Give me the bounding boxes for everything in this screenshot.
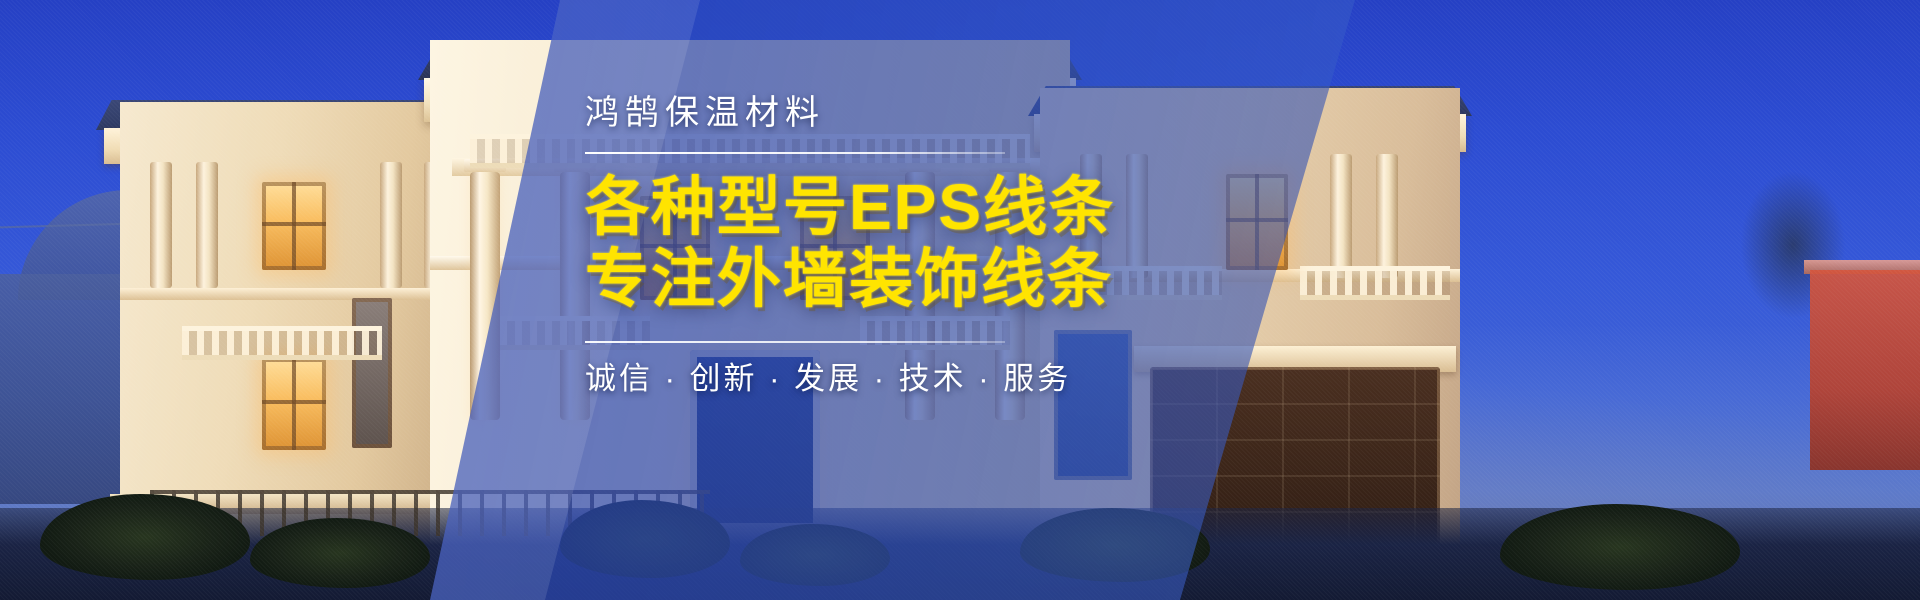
window-lit bbox=[262, 358, 326, 450]
window-mullion bbox=[262, 400, 326, 404]
window-lit bbox=[262, 182, 326, 270]
window-dim bbox=[352, 298, 392, 448]
right-wing-column bbox=[1376, 154, 1398, 278]
banner-copy: 鸿鹄保温材料 各种型号EPS线条 专注外墙装饰线条 诚信 · 创新 · 发展 ·… bbox=[585, 96, 1345, 394]
left-wing-column bbox=[196, 162, 218, 288]
promo-banner: 鸿鹄保温材料 各种型号EPS线条 专注外墙装饰线条 诚信 · 创新 · 发展 ·… bbox=[0, 0, 1920, 600]
tagline: 诚信 · 创新 · 发展 · 技术 · 服务 bbox=[585, 363, 1345, 394]
brand-name: 鸿鹄保温材料 bbox=[585, 96, 1345, 130]
left-wing-balustrade bbox=[182, 326, 382, 360]
red-block bbox=[1810, 270, 1920, 470]
left-wing-string-course bbox=[120, 288, 450, 300]
divider-bottom bbox=[585, 341, 1005, 343]
left-wing-column bbox=[150, 162, 172, 288]
left-wing-column bbox=[380, 162, 402, 288]
divider-top bbox=[585, 152, 1005, 154]
headline-line-1: 各种型号EPS线条 bbox=[585, 172, 1345, 244]
window-mullion bbox=[262, 222, 326, 226]
headline-line-2: 专注外墙装饰线条 bbox=[585, 244, 1345, 316]
